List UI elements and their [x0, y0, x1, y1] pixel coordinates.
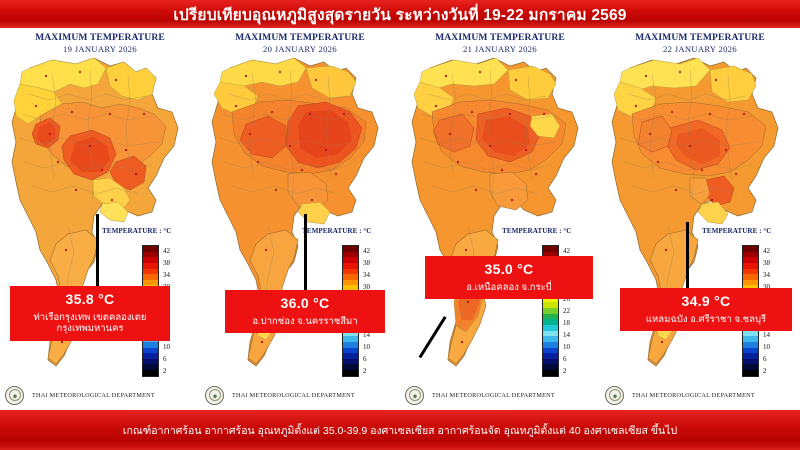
tmd-seal-icon	[205, 386, 224, 405]
temperature-legend: TEMPERATURE : °C 42383430262218141062	[524, 227, 598, 382]
legend-tick: 38	[763, 259, 770, 267]
page-title: เปรียบเทียบอุณหภูมิสูงสุดรายวัน ระหว่างว…	[173, 2, 626, 27]
map-panels-row: MAXIMUM TEMPERATURE 19 JANUARY 2026	[0, 28, 800, 410]
panel-heading: MAXIMUM TEMPERATURE	[400, 32, 600, 43]
title-bar: เปรียบเทียบอุณหภูมิสูงสุดรายวัน ระหว่างว…	[0, 0, 800, 28]
department-label: THAI METEOROLOGICAL DEPARTMENT	[32, 392, 155, 399]
legend-color-segment	[543, 370, 558, 376]
callout-leader-line	[96, 214, 99, 290]
department-label: THAI METEOROLOGICAL DEPARTMENT	[232, 392, 355, 399]
callout-temperature: 36.0 °C	[229, 295, 381, 313]
map-panel-19-january: MAXIMUM TEMPERATURE 19 JANUARY 2026	[0, 28, 200, 410]
callout-location-line1: แหลมฉบัง อ.ศรีราชา จ.ชลบุรี	[624, 314, 788, 326]
map-panel-22-january: MAXIMUM TEMPERATURE 22 JANUARY 2026	[600, 28, 800, 410]
legend-tick: 10	[763, 343, 770, 351]
map-panel-21-january: MAXIMUM TEMPERATURE 21 JANUARY 2026	[400, 28, 600, 410]
panel-footer: THAI METEOROLOGICAL DEPARTMENT	[0, 384, 200, 406]
callout-leader-line	[686, 222, 689, 290]
footer-bar: เกณฑ์อากาศร้อน อากาศร้อน อุณหภูมิตั้งแต่…	[0, 410, 800, 450]
panel-heading: MAXIMUM TEMPERATURE	[600, 32, 800, 43]
callout-location-line1: อ.ปากช่อง จ.นครราชสีมา	[229, 316, 381, 328]
panel-footer: THAI METEOROLOGICAL DEPARTMENT	[200, 384, 400, 406]
legend-tick: 34	[763, 271, 770, 279]
legend-tick: 38	[163, 259, 170, 267]
legend-tick: 38	[363, 259, 370, 267]
legend-tick: 34	[163, 271, 170, 279]
legend-tick: 2	[363, 367, 367, 375]
panel-date: 21 JANUARY 2026	[400, 44, 600, 54]
legend-tick: 18	[563, 319, 570, 327]
legend-tick: 6	[163, 355, 167, 363]
panel-footer: THAI METEOROLOGICAL DEPARTMENT	[400, 384, 600, 406]
legend-title: TEMPERATURE : °C	[302, 227, 371, 235]
legend-tick: 2	[563, 367, 567, 375]
heat-criteria-note: เกณฑ์อากาศร้อน อากาศร้อน อุณหภูมิตั้งแต่…	[123, 422, 677, 439]
legend-color-segment	[143, 370, 158, 376]
legend-color-segment	[743, 370, 758, 376]
callout-location-line2: กรุงเทพมหานคร	[14, 323, 166, 335]
panel-footer: THAI METEOROLOGICAL DEPARTMENT	[600, 384, 800, 406]
callout-temperature: 34.9 °C	[624, 293, 788, 311]
legend-tick: 42	[363, 247, 370, 255]
panel-date: 20 JANUARY 2026	[200, 44, 400, 54]
legend-tick: 6	[363, 355, 367, 363]
department-label: THAI METEOROLOGICAL DEPARTMENT	[632, 392, 755, 399]
tmd-seal-icon	[5, 386, 24, 405]
callout-leader-line	[304, 214, 307, 290]
legend-title: TEMPERATURE : °C	[102, 227, 171, 235]
legend-tick: 6	[563, 355, 567, 363]
panel-header: MAXIMUM TEMPERATURE 20 JANUARY 2026	[200, 28, 400, 54]
max-temperature-callout: 35.0 °C อ.เหนือคลอง จ.กระบี่	[425, 256, 593, 299]
max-temperature-callout: 35.8 °C ท่าเรือกรุงเทพ เขตคลองเตย กรุงเท…	[10, 286, 170, 341]
legend-tick: 14	[563, 331, 570, 339]
panel-heading: MAXIMUM TEMPERATURE	[0, 32, 200, 43]
max-temperature-callout: 36.0 °C อ.ปากช่อง จ.นครราชสีมา	[225, 290, 385, 333]
legend-tick: 42	[763, 247, 770, 255]
legend-tick: 14	[763, 331, 770, 339]
max-temperature-callout: 34.9 °C แหลมฉบัง อ.ศรีราชา จ.ชลบุรี	[620, 288, 792, 331]
legend-tick: 22	[563, 307, 570, 315]
panel-date: 19 JANUARY 2026	[0, 44, 200, 54]
panel-header: MAXIMUM TEMPERATURE 22 JANUARY 2026	[600, 28, 800, 54]
legend-tick: 34	[363, 271, 370, 279]
legend-tick: 42	[163, 247, 170, 255]
legend-color-segment	[343, 370, 358, 376]
legend-tick: 10	[163, 343, 170, 351]
legend-tick: 6	[763, 355, 767, 363]
legend-tick: 2	[163, 367, 167, 375]
tmd-seal-icon	[605, 386, 624, 405]
callout-location-line1: ท่าเรือกรุงเทพ เขตคลองเตย	[14, 312, 166, 324]
panel-header: MAXIMUM TEMPERATURE 19 JANUARY 2026	[0, 28, 200, 54]
legend-tick: 10	[363, 343, 370, 351]
department-label: THAI METEOROLOGICAL DEPARTMENT	[432, 392, 555, 399]
tmd-seal-icon	[405, 386, 424, 405]
map-panel-20-january: MAXIMUM TEMPERATURE 20 JANUARY 2026	[200, 28, 400, 410]
panel-header: MAXIMUM TEMPERATURE 21 JANUARY 2026	[400, 28, 600, 54]
panel-heading: MAXIMUM TEMPERATURE	[200, 32, 400, 43]
legend-tick: 10	[563, 343, 570, 351]
callout-temperature: 35.0 °C	[429, 261, 589, 279]
callout-location-line1: อ.เหนือคลอง จ.กระบี่	[429, 282, 589, 294]
legend-tick: 42	[563, 247, 570, 255]
panel-date: 22 JANUARY 2026	[600, 44, 800, 54]
legend-title: TEMPERATURE : °C	[502, 227, 571, 235]
legend-tick: 2	[763, 367, 767, 375]
legend-title: TEMPERATURE : °C	[702, 227, 771, 235]
callout-temperature: 35.8 °C	[14, 291, 166, 309]
